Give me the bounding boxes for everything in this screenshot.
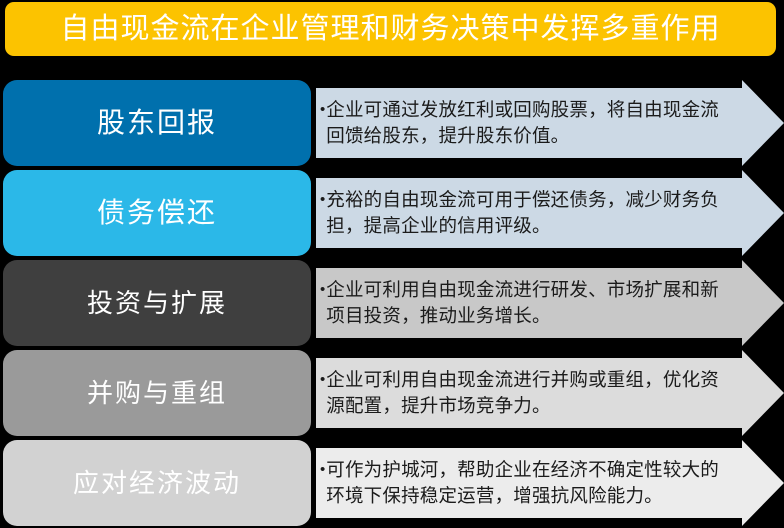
arrow-inner-5: • 可作为护城河，帮助企业在经济不确定性较大的环境下保持稳定运营，增强抗风险能力… [316,457,784,509]
arrow-inner-4: • 企业可利用自由现金流进行并购或重组，优化资源配置，提升市场竞争力。 [316,367,784,419]
process-row-2: 债务偿还 • 充裕的自由现金流可用于偿还债务，减少财务负担，提高企业的信用评级。 [0,170,784,256]
label-box-5[interactable]: 应对经济波动 [3,440,311,526]
arrow-callout-5[interactable]: • 可作为护城河，帮助企业在经济不确定性较大的环境下保持稳定运营，增强抗风险能力… [316,440,784,526]
label-box-4[interactable]: 并购与重组 [3,350,311,436]
bullet-icon-3: • [320,277,325,303]
label-text-1: 股东回报 [97,109,217,137]
arrow-callout-4[interactable]: • 企业可利用自由现金流进行并购或重组，优化资源配置，提升市场竞争力。 [316,350,784,436]
label-box-2[interactable]: 债务偿还 [3,170,311,256]
label-text-4: 并购与重组 [87,380,227,406]
arrow-callout-1[interactable]: • 企业可通过发放红利或回购股票，将自由现金流回馈给股东，提升股东价值。 [316,80,784,166]
process-row-3: 投资与扩展 • 企业可利用自由现金流进行研发、市场扩展和新项目投资，推动业务增长… [0,260,784,346]
label-box-3[interactable]: 投资与扩展 [3,260,311,346]
arrow-inner-1: • 企业可通过发放红利或回购股票，将自由现金流回馈给股东，提升股东价值。 [316,97,784,149]
bullet-icon-2: • [320,187,325,213]
title-banner: 自由现金流在企业管理和财务决策中发挥多重作用 [5,2,776,56]
bullet-icon-1: • [320,97,325,123]
description-text-3: 企业可利用自由现金流进行研发、市场扩展和新项目投资，推动业务增长。 [326,277,728,329]
page-title: 自由现金流在企业管理和财务决策中发挥多重作用 [60,15,720,44]
label-text-2: 债务偿还 [97,199,217,227]
infographic-canvas: 自由现金流在企业管理和财务决策中发挥多重作用 股东回报 • 企业可通过发放红利或… [0,0,784,528]
description-text-4: 企业可利用自由现金流进行并购或重组，优化资源配置，提升市场竞争力。 [326,367,728,419]
bullet-icon-5: • [320,457,325,483]
process-row-5: 应对经济波动 • 可作为护城河，帮助企业在经济不确定性较大的环境下保持稳定运营，… [0,440,784,526]
process-row-4: 并购与重组 • 企业可利用自由现金流进行并购或重组，优化资源配置，提升市场竞争力… [0,350,784,436]
description-text-2: 充裕的自由现金流可用于偿还债务，减少财务负担，提高企业的信用评级。 [326,187,728,239]
description-text-5: 可作为护城河，帮助企业在经济不确定性较大的环境下保持稳定运营，增强抗风险能力。 [326,457,728,509]
label-box-1[interactable]: 股东回报 [3,80,311,166]
process-row-1: 股东回报 • 企业可通过发放红利或回购股票，将自由现金流回馈给股东，提升股东价值… [0,80,784,166]
arrow-callout-3[interactable]: • 企业可利用自由现金流进行研发、市场扩展和新项目投资，推动业务增长。 [316,260,784,346]
label-text-5: 应对经济波动 [73,470,241,496]
label-text-3: 投资与扩展 [87,290,227,316]
arrow-inner-2: • 充裕的自由现金流可用于偿还债务，减少财务负担，提高企业的信用评级。 [316,187,784,239]
arrow-callout-2[interactable]: • 充裕的自由现金流可用于偿还债务，减少财务负担，提高企业的信用评级。 [316,170,784,256]
description-text-1: 企业可通过发放红利或回购股票，将自由现金流回馈给股东，提升股东价值。 [326,97,728,149]
arrow-inner-3: • 企业可利用自由现金流进行研发、市场扩展和新项目投资，推动业务增长。 [316,277,784,329]
bullet-icon-4: • [320,367,325,393]
